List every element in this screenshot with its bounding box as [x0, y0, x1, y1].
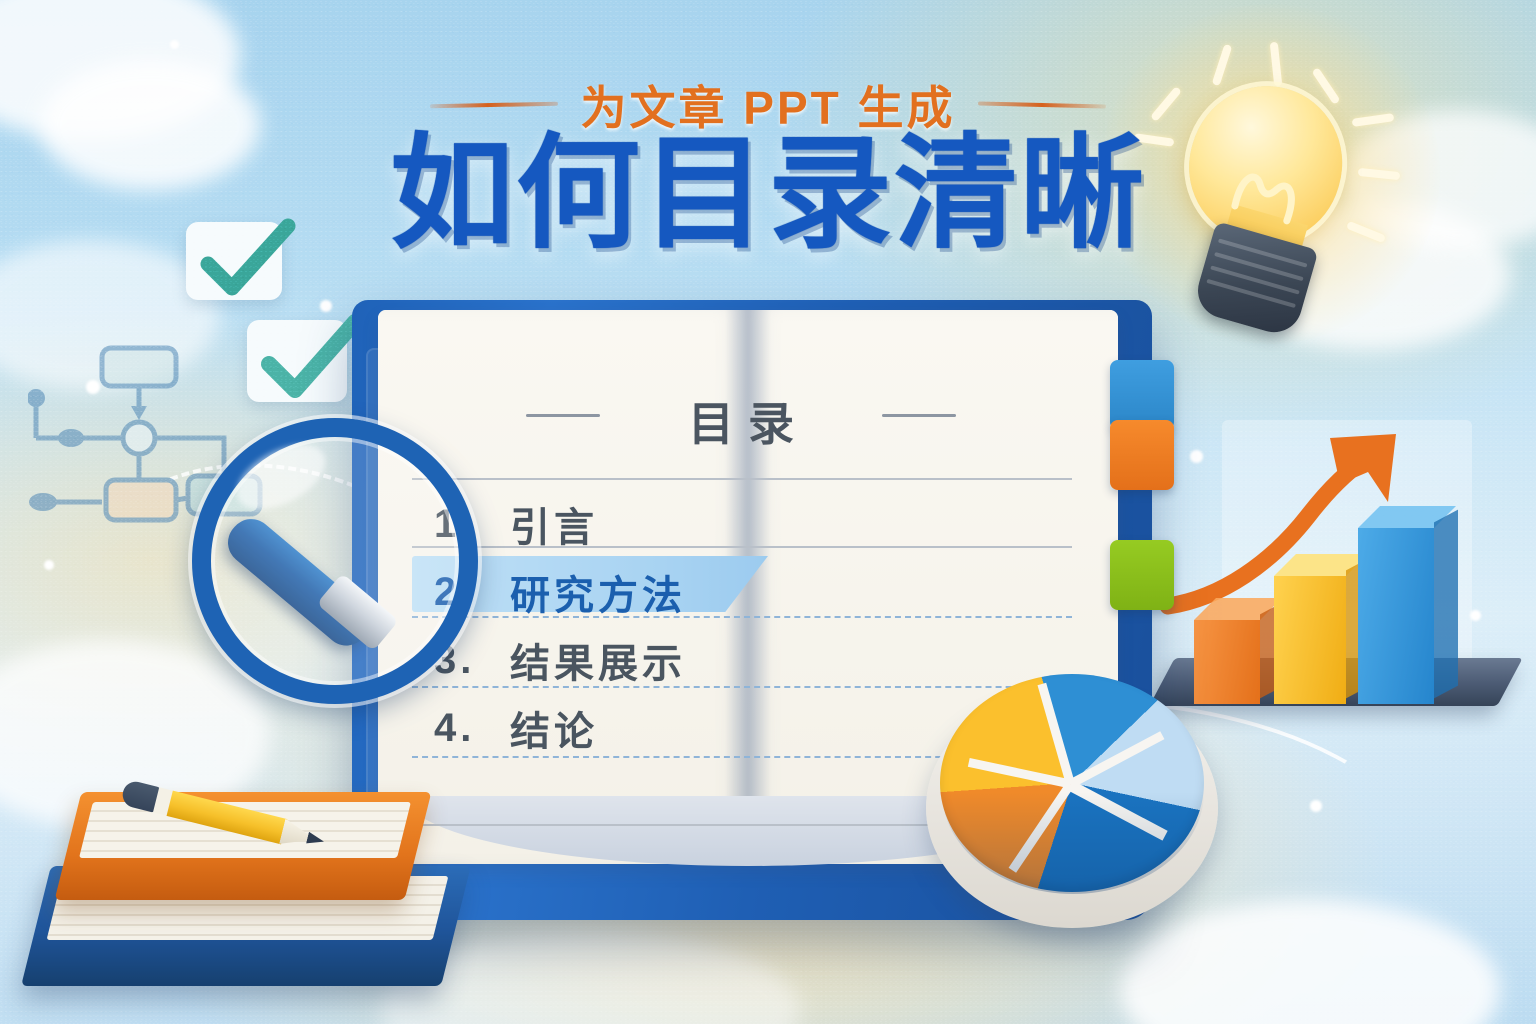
- toc-item-label: 结论: [510, 699, 598, 757]
- bookmark-tab-green[interactable]: [1110, 540, 1174, 610]
- toc-item-2[interactable]: 2. 研究方法: [434, 558, 994, 626]
- bar-2: [1274, 576, 1346, 704]
- toc-item-label: 引言: [510, 495, 598, 553]
- book-stack: [28, 770, 478, 1020]
- poster-canvas: 目录 1. 引言 2. 研究方法 3. 结果展示: [0, 0, 1536, 1024]
- toc-item-4[interactable]: 4. 结论: [434, 694, 994, 762]
- toc-item-3[interactable]: 3. 结果展示: [434, 626, 994, 694]
- magnifier-lens: [192, 418, 478, 704]
- bar-3: [1358, 528, 1434, 704]
- toc-item-label: 研究方法: [510, 563, 686, 621]
- toc-item-1[interactable]: 1. 引言: [434, 490, 994, 558]
- page-rule: [412, 478, 1072, 480]
- subtitle-dash-right: [977, 101, 1105, 108]
- pie-chart: [926, 664, 1226, 936]
- pencil-lead: [306, 832, 325, 848]
- toc-dash-right: [882, 414, 956, 417]
- toc-heading: 目录: [378, 388, 1118, 454]
- toc-item-label: 结果展示: [510, 631, 686, 689]
- subtitle-dash-left: [430, 102, 558, 109]
- toc-list: 1. 引言 2. 研究方法 3. 结果展示 4. 结论: [434, 490, 994, 762]
- bookmark-tab-orange[interactable]: [1110, 420, 1174, 490]
- magnifier-icon[interactable]: [186, 418, 486, 778]
- page-title: 如何目录清晰: [0, 128, 1536, 262]
